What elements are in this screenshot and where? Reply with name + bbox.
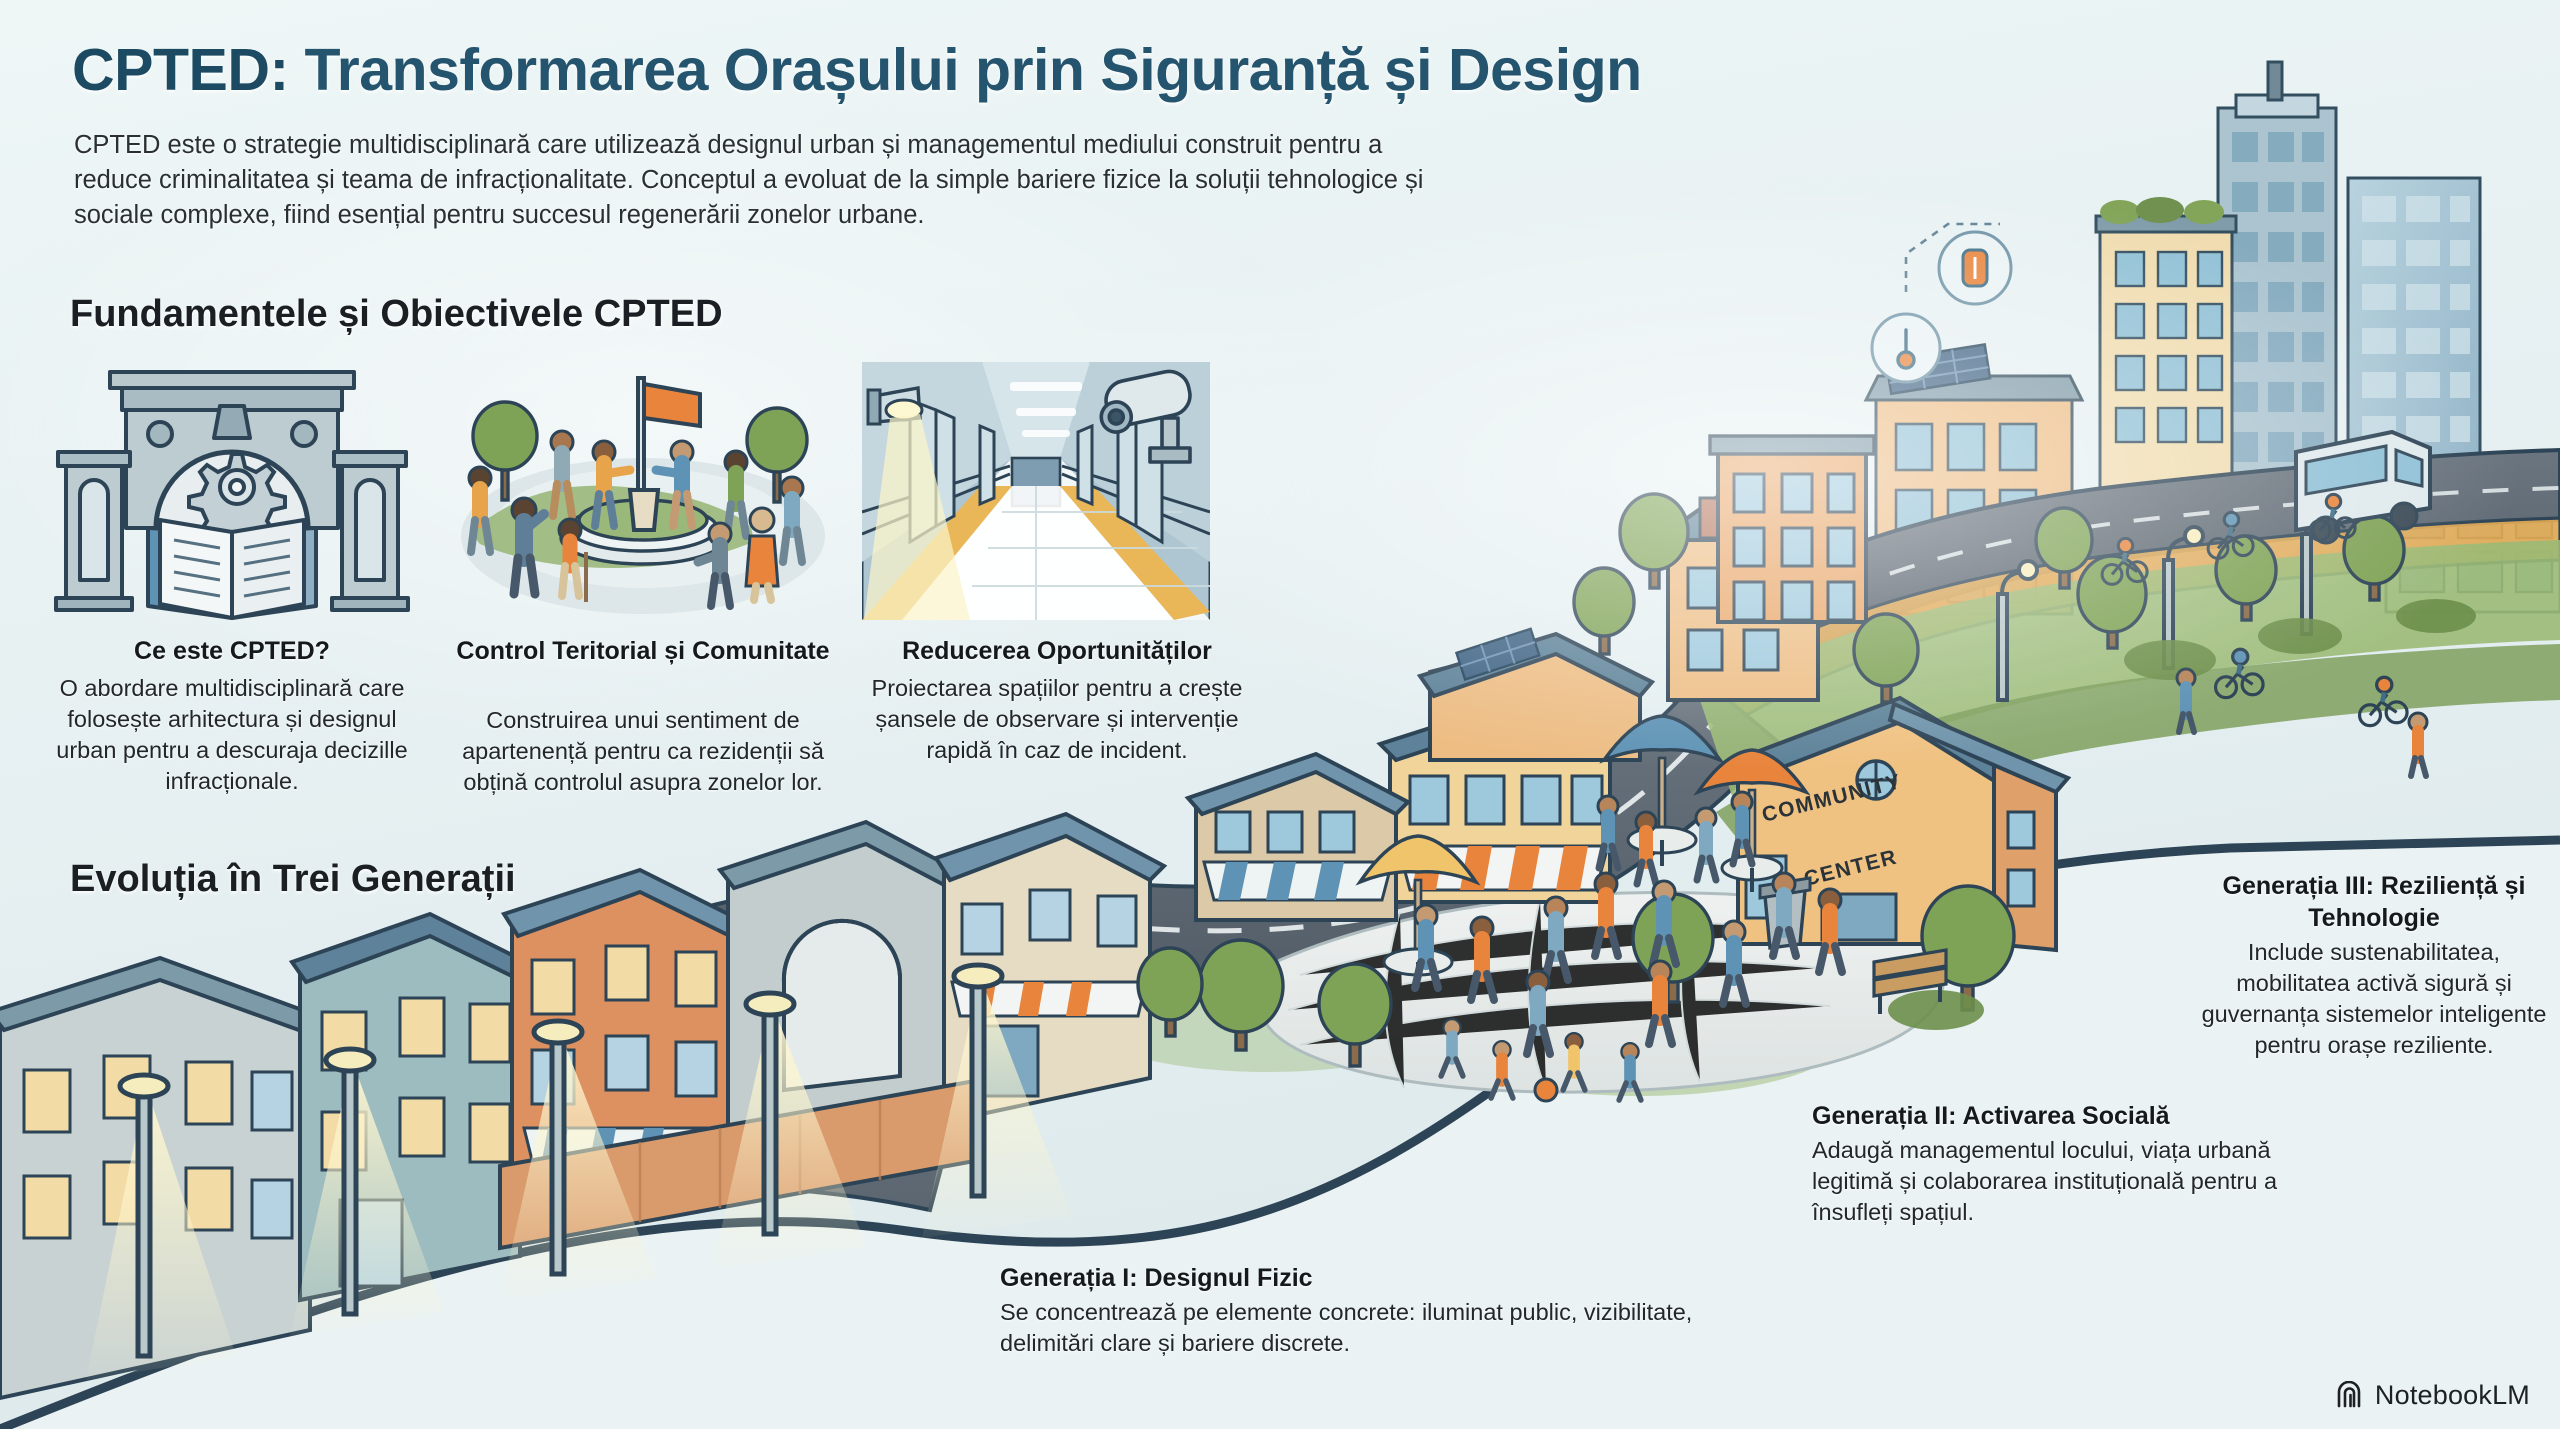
page-title-prefix: CPTED: [72, 37, 289, 103]
infographic-canvas: COMMUNITY CENTER [0, 0, 2560, 1429]
watermark-label: NotebookLM [2375, 1380, 2530, 1411]
pillar-title: Control Teritorial și Comunitate [452, 635, 834, 667]
generation-block-3: Generația III: Reziliență și Tehnologie … [2200, 870, 2548, 1061]
generation-title: Generația I: Designul Fizic [1000, 1262, 1790, 1294]
corridor-surveillance-camera-icon [862, 362, 1210, 620]
section-heading-evolution: Evoluția în Trei Generații [70, 858, 516, 901]
institutional-arch-gear-book-icon [48, 360, 416, 622]
intro-paragraph: CPTED este o strategie multidisciplinară… [74, 128, 1434, 233]
generation-body: Adaugă managementul locului, viața urban… [1812, 1135, 2312, 1228]
generation-body: Include sustenabilitatea, mobilitatea ac… [2200, 937, 2548, 1061]
pillar-body: Proiectarea spațiilor pentru a crește șa… [862, 673, 1252, 766]
generation-title: Generația III: Reziliență și Tehnologie [2200, 870, 2548, 934]
community-gathering-flag-icon [452, 360, 834, 622]
pillar-title: Reducerea Oportunităților [862, 635, 1252, 667]
open-book-icon [148, 520, 316, 618]
pillar-title: Ce este CPTED? [48, 635, 416, 667]
pillar-body: Construirea unui sentiment de apartenenț… [452, 705, 834, 798]
page-title-rest: Transformarea Orașului prin Siguranță și… [289, 37, 1642, 103]
section-heading-fundamentals: Fundamentele și Obiectivele CPTED [70, 293, 723, 336]
notebooklm-watermark: NotebookLM [2335, 1380, 2530, 1411]
generation-body: Se concentrează pe elemente concrete: il… [1000, 1297, 1790, 1359]
pillar-body: O abordare multidisciplinară care folose… [48, 673, 416, 797]
generation-title: Generația II: Activarea Socială [1812, 1100, 2312, 1132]
notebooklm-spiral-icon [2335, 1381, 2365, 1411]
generation-block-2: Generația II: Activarea Socială Adaugă m… [1812, 1100, 2312, 1228]
generation-block-1: Generația I: Designul Fizic Se concentre… [1000, 1262, 1790, 1359]
page-title: CPTED: Transformarea Orașului prin Sigur… [72, 36, 1642, 104]
